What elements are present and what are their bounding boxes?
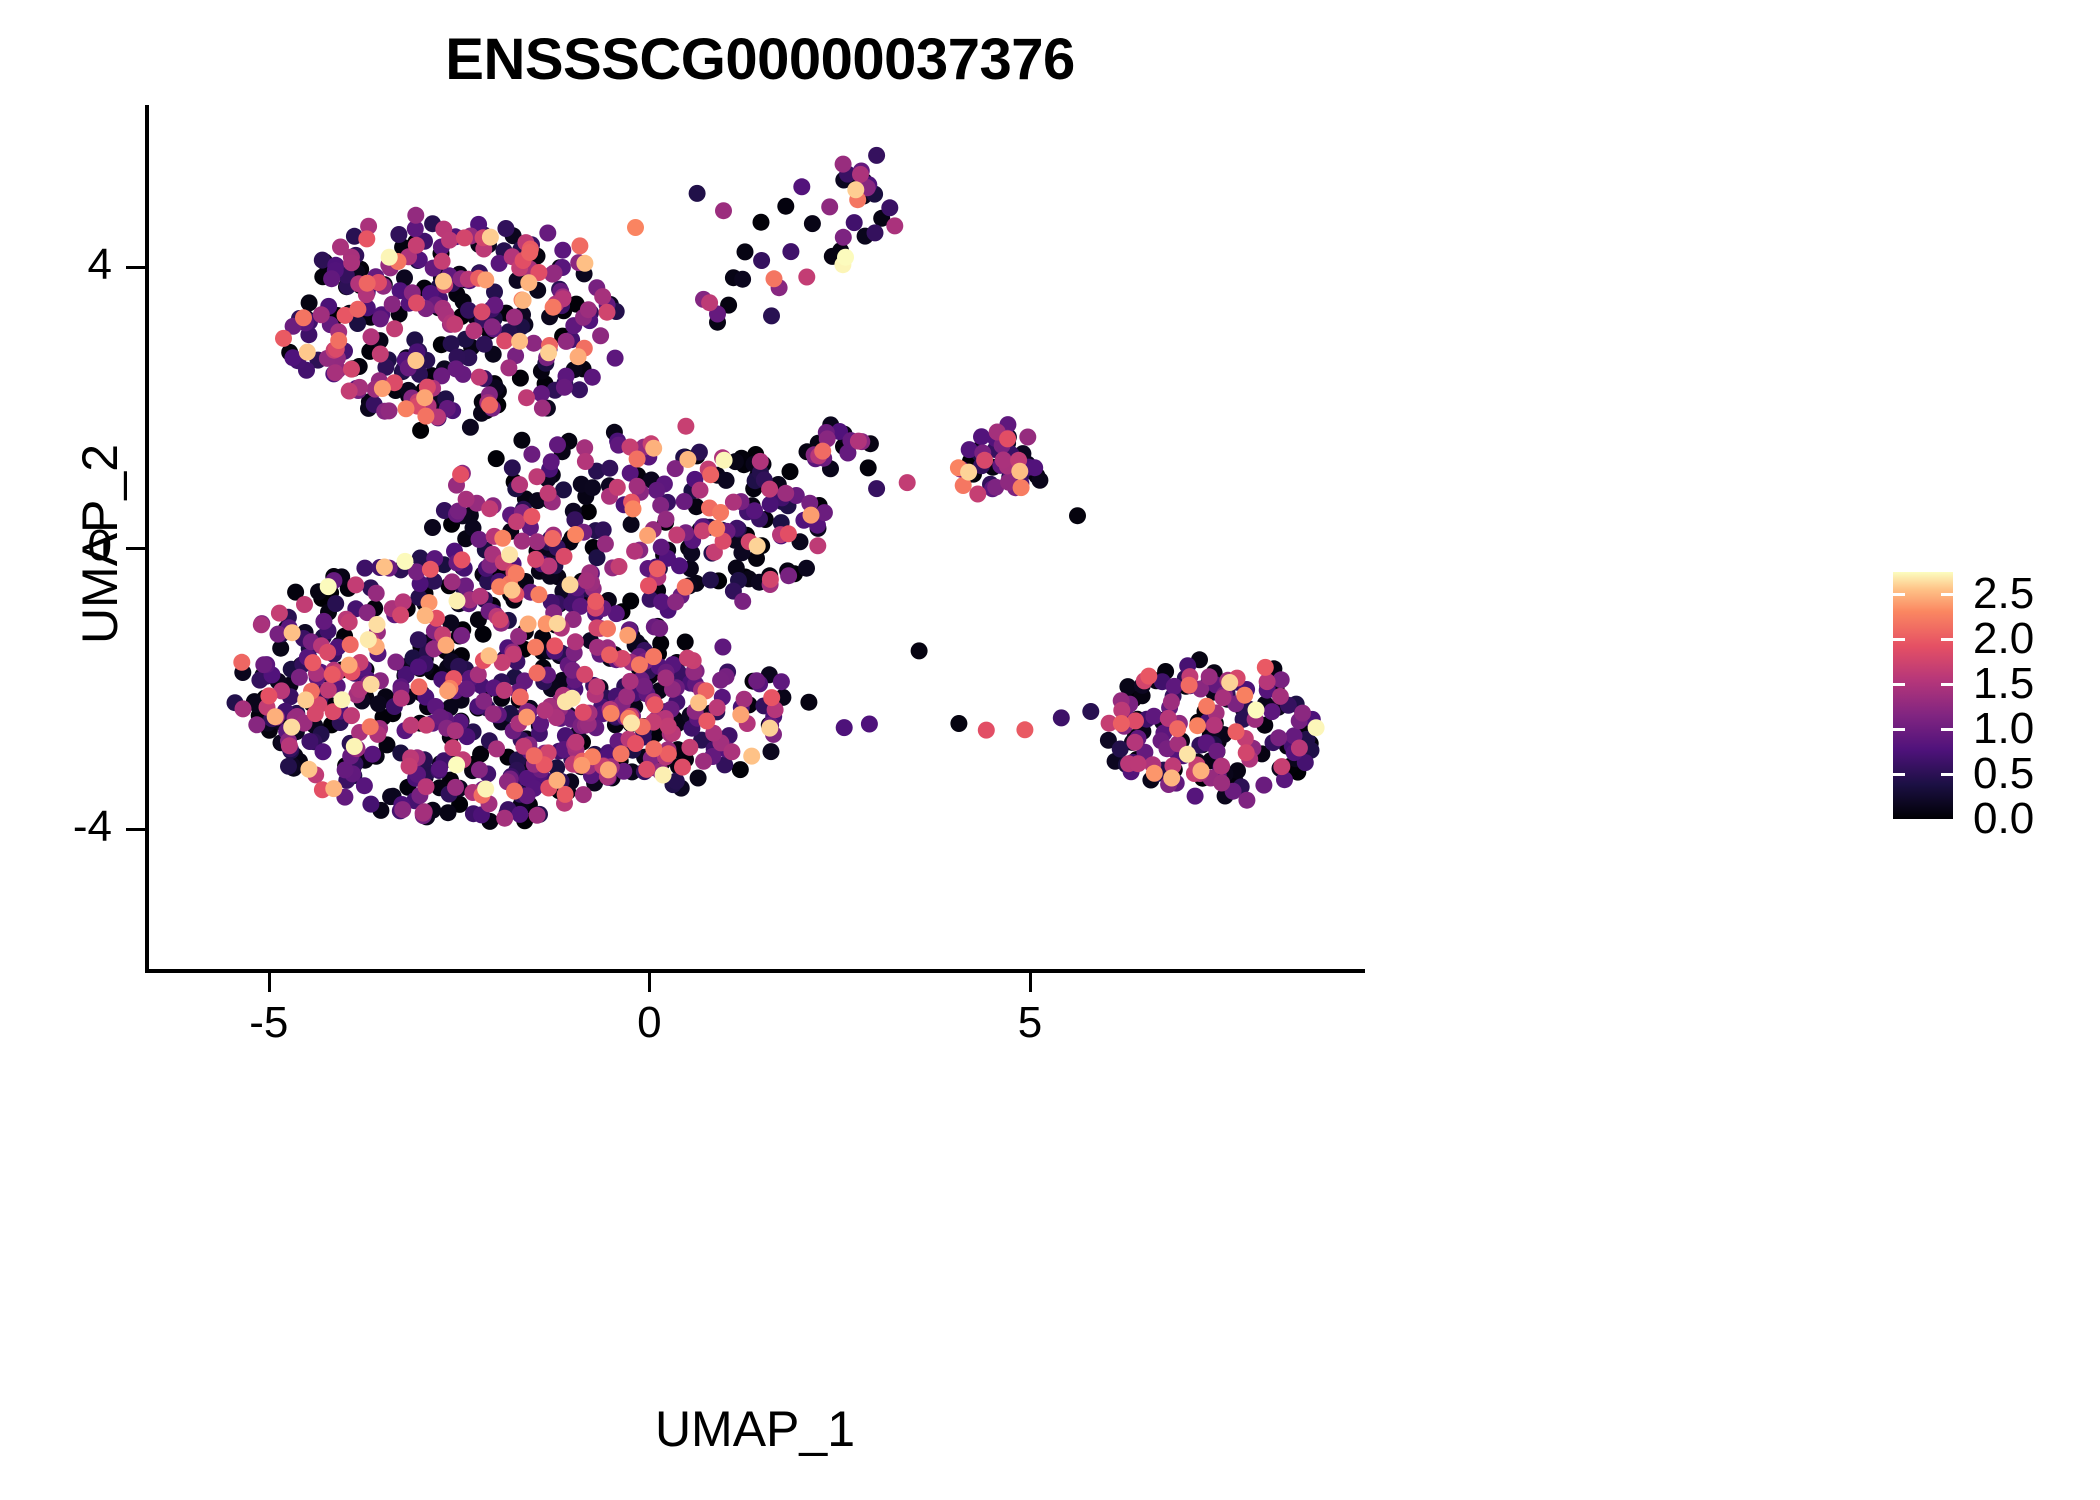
scatter-point <box>508 565 525 582</box>
scatter-point <box>518 389 535 406</box>
scatter-point <box>1019 429 1036 446</box>
scatter-point <box>481 500 498 517</box>
colorbar-tick-mark <box>1941 683 1953 686</box>
scatter-point <box>513 432 530 449</box>
colorbar-tick-mark <box>1893 773 1905 776</box>
scatter-point <box>346 738 363 755</box>
scatter-point <box>1016 721 1033 738</box>
scatter-point <box>1193 762 1210 779</box>
scatter-point <box>320 578 337 595</box>
scatter-point <box>618 688 635 705</box>
scatter-point <box>835 156 852 173</box>
scatter-point <box>452 466 469 483</box>
scatter-point <box>599 620 616 637</box>
scatter-point <box>424 519 441 536</box>
scatter-point <box>969 486 986 503</box>
scatter-point <box>511 333 528 350</box>
scatter-point <box>349 301 366 318</box>
scatter-point <box>601 460 618 477</box>
scatter-point <box>809 537 826 554</box>
scatter-point <box>529 533 546 550</box>
scatter-point <box>343 361 360 378</box>
scatter-point <box>852 166 869 183</box>
scatter-point <box>625 500 642 517</box>
scatter-point <box>576 666 593 683</box>
scatter-point <box>692 482 709 499</box>
scatter-point <box>780 567 797 584</box>
scatter-point <box>523 508 540 525</box>
scatter-point <box>761 481 778 498</box>
x-tick-label: 5 <box>1018 998 1042 1048</box>
scatter-point <box>384 296 401 313</box>
scatter-point <box>410 631 427 648</box>
colorbar-tick-mark <box>1941 638 1953 641</box>
scatter-point <box>782 243 799 260</box>
scatter-point <box>456 229 473 246</box>
scatter-point <box>655 767 672 784</box>
colorbar-tick-mark <box>1941 593 1953 596</box>
scatter-point <box>1166 678 1183 695</box>
scatter-point <box>544 530 561 547</box>
scatter-point <box>471 369 488 386</box>
scatter-point <box>315 613 332 630</box>
scatter-point <box>341 657 358 674</box>
scatter-point <box>837 249 854 266</box>
scatter-point <box>235 700 252 717</box>
scatter-point <box>528 468 545 485</box>
scatter-point <box>626 543 643 560</box>
scatter-point <box>434 253 451 270</box>
scatter-point <box>275 330 292 347</box>
scatter-point <box>1069 507 1086 524</box>
scatter-point <box>1213 758 1230 775</box>
scatter-point <box>300 761 317 778</box>
scatter-point <box>323 270 340 287</box>
scatter-point <box>564 690 581 707</box>
scatter-point <box>575 786 592 803</box>
scatter-point <box>676 493 693 510</box>
scatter-point <box>511 806 528 823</box>
scatter-point <box>297 691 314 708</box>
scatter-point <box>374 380 391 397</box>
scatter-point <box>1163 770 1180 787</box>
scatter-point <box>690 770 707 787</box>
scatter-point <box>447 779 464 796</box>
scatter-point <box>518 709 535 726</box>
scatter-point <box>444 739 461 756</box>
scatter-point <box>307 705 324 722</box>
scatter-point <box>416 389 433 406</box>
scatter-point <box>638 761 655 778</box>
scatter-point <box>1163 693 1180 710</box>
scatter-point <box>492 611 509 628</box>
scatter-point <box>677 579 694 596</box>
scatter-point <box>446 316 463 333</box>
scatter-point <box>868 147 885 164</box>
scatter-point <box>315 743 332 760</box>
x-tick-mark <box>268 973 271 992</box>
colorbar-legend: 2.52.01.51.00.50.0 <box>1893 572 2093 832</box>
scatter-point <box>520 616 537 633</box>
scatter-point <box>343 707 360 724</box>
scatter-point <box>410 659 427 676</box>
scatter-point <box>402 717 419 734</box>
scatter-point <box>500 359 517 376</box>
scatter-point <box>846 214 863 231</box>
scatter-point <box>868 480 885 497</box>
scatter-point <box>607 350 624 367</box>
scatter-point <box>698 713 715 730</box>
scatter-point <box>753 252 770 269</box>
scatter-point <box>782 463 799 480</box>
scatter-point <box>356 560 373 577</box>
scatter-point <box>570 348 587 365</box>
scatter-point <box>477 781 494 798</box>
scatter-point <box>1187 788 1204 805</box>
scatter-point <box>471 531 488 548</box>
scatter-point <box>1113 715 1130 732</box>
scatter-point <box>562 576 579 593</box>
scatter-point <box>1189 717 1206 734</box>
scatter-point <box>267 708 284 725</box>
scatter-point <box>587 593 604 610</box>
scatter-point <box>867 224 884 241</box>
scatter-point <box>1206 717 1223 734</box>
scatter-point <box>534 400 551 417</box>
scatter-point <box>1198 698 1215 715</box>
scatter-point <box>319 644 336 661</box>
scatter-point <box>362 718 379 735</box>
scatter-point <box>504 582 521 599</box>
scatter-point <box>543 453 560 470</box>
scatter-point <box>511 476 528 493</box>
scatter-point <box>387 654 404 671</box>
scatter-point <box>453 551 470 568</box>
scatter-point <box>324 666 341 683</box>
scatter-point <box>960 464 977 481</box>
scatter-point <box>253 616 270 633</box>
x-tick-label: -5 <box>249 998 288 1048</box>
scatter-point <box>440 804 457 821</box>
scatter-point <box>660 718 677 735</box>
scatter-point <box>732 761 749 778</box>
scatter-point <box>723 743 740 760</box>
scatter-point <box>763 743 780 760</box>
scatter-point <box>476 336 493 353</box>
scatter-point <box>370 695 387 712</box>
scatter-point <box>734 593 751 610</box>
scatter-point <box>639 527 656 544</box>
scatter-point <box>645 740 662 757</box>
scatter-point <box>1013 479 1030 496</box>
scatter-point <box>364 746 381 763</box>
colorbar-tick-label: 2.5 <box>1973 569 2034 619</box>
scatter-point <box>411 678 428 695</box>
scatter-point <box>737 243 754 260</box>
scatter-point <box>1294 705 1311 722</box>
scatter-point <box>899 474 916 491</box>
scatter-point <box>976 452 993 469</box>
colorbar-tick-mark <box>1893 728 1905 731</box>
scatter-point <box>1127 712 1144 729</box>
x-axis-line <box>145 969 1365 973</box>
scatter-point <box>753 214 770 231</box>
colorbar-tick-mark <box>1893 683 1905 686</box>
scatter-point <box>973 428 990 445</box>
scatter-point <box>861 716 878 733</box>
scatter-point <box>558 333 575 350</box>
scatter-point <box>597 536 614 553</box>
scatter-point <box>368 585 385 602</box>
scatter-point <box>715 202 732 219</box>
scatter-point <box>408 237 425 254</box>
scatter-point <box>1238 744 1255 761</box>
scatter-point <box>1248 702 1265 719</box>
scatter-point <box>415 805 432 822</box>
scatter-point <box>1208 743 1225 760</box>
scatter-point <box>546 637 563 654</box>
scatter-point <box>327 595 344 612</box>
scatter-point <box>743 748 760 765</box>
scatter-point <box>347 576 364 593</box>
scatter-point <box>1145 708 1162 725</box>
scatter-point <box>441 232 458 249</box>
scatter-point <box>494 530 511 547</box>
colorbar-tick-label: 2.0 <box>1973 614 2034 664</box>
scatter-point <box>1179 746 1196 763</box>
scatter-point <box>496 682 513 699</box>
colorbar-tick-mark <box>1941 728 1953 731</box>
colorbar-tick-mark <box>1893 638 1905 641</box>
scatter-point <box>527 551 544 568</box>
scatter-point <box>1257 659 1274 676</box>
scatter-point <box>341 383 358 400</box>
scatter-point <box>627 735 644 752</box>
scatter-point <box>372 310 389 327</box>
scatter-point <box>1201 668 1218 685</box>
scatter-point <box>777 485 794 502</box>
scatter-point <box>573 757 590 774</box>
scatter-point <box>999 430 1016 447</box>
scatter-point <box>475 626 492 643</box>
scatter-point <box>1270 729 1287 746</box>
scatter-point <box>777 198 794 215</box>
scatter-point <box>488 450 505 467</box>
scatter-point <box>761 720 778 737</box>
scatter-point <box>1140 668 1157 685</box>
scatter-point <box>330 332 347 349</box>
scatter-point <box>343 254 360 271</box>
scatter-point <box>1026 459 1043 476</box>
scatter-point <box>444 573 461 590</box>
scatter-point <box>601 646 618 663</box>
scatter-point <box>523 446 540 463</box>
scatter-point <box>362 796 379 813</box>
scatter-point <box>472 588 489 605</box>
scatter-point <box>372 346 389 363</box>
scatter-point <box>798 560 815 577</box>
scatter-point <box>271 605 288 622</box>
scatter-point <box>1255 777 1272 794</box>
scatter-point <box>549 772 566 789</box>
scatter-point <box>448 360 465 377</box>
scatter-point <box>1130 755 1147 772</box>
scatter-point <box>334 691 351 708</box>
scatter-point <box>576 255 593 272</box>
scatter-point <box>417 408 434 425</box>
scatter-point <box>631 656 648 673</box>
scatter-point <box>549 436 566 453</box>
scatter-point <box>762 496 779 513</box>
scatter-point <box>718 472 735 489</box>
scatter-point <box>1272 688 1289 705</box>
scatter-point <box>417 607 434 624</box>
scatter-point <box>567 526 584 543</box>
scatter-point <box>536 702 553 719</box>
scatter-point <box>667 594 684 611</box>
scatter-point <box>814 443 831 460</box>
scatter-point <box>401 758 418 775</box>
scatter-plot-panel <box>147 105 1365 969</box>
scatter-point <box>567 633 584 650</box>
scatter-point <box>623 715 640 732</box>
scatter-point <box>580 301 597 318</box>
scatter-point <box>341 614 358 631</box>
scatter-point <box>714 639 731 656</box>
scatter-point <box>651 620 668 637</box>
scatter-point <box>599 304 616 321</box>
scatter-point <box>477 271 494 288</box>
scatter-point <box>397 553 414 570</box>
scatter-point <box>422 561 439 578</box>
scatter-point <box>481 647 498 664</box>
scatter-point <box>453 627 470 644</box>
scatter-point <box>584 479 601 496</box>
scatter-point <box>679 650 696 667</box>
scatter-point <box>702 572 719 589</box>
scatter-point <box>592 327 609 344</box>
scatter-point <box>629 451 646 468</box>
scatter-point <box>622 593 639 610</box>
scatter-point <box>360 631 377 648</box>
scatter-point <box>689 185 706 202</box>
scatter-point <box>881 199 898 216</box>
scatter-point <box>763 307 780 324</box>
scatter-point <box>496 810 513 827</box>
scatter-point <box>520 274 537 291</box>
scatter-point <box>533 385 550 402</box>
scatter-point <box>304 654 321 671</box>
scatter-point <box>708 520 725 537</box>
scatter-point <box>1264 703 1281 720</box>
scatter-point <box>485 705 502 722</box>
scatter-point <box>529 665 546 682</box>
scatter-point <box>836 719 853 736</box>
scatter-point <box>690 694 707 711</box>
scatter-point <box>1238 792 1255 809</box>
scatter-point <box>506 309 523 326</box>
scatter-point <box>860 459 877 476</box>
scatter-point <box>398 400 415 417</box>
scatter-point <box>1126 734 1143 751</box>
scatter-point <box>283 719 300 736</box>
scatter-point <box>736 691 753 708</box>
scatter-point <box>886 217 903 234</box>
scatter-point <box>381 249 398 266</box>
scatter-point <box>407 352 424 369</box>
scatter-point <box>473 303 490 320</box>
x-tick-mark <box>648 973 651 992</box>
scatter-point <box>390 226 407 243</box>
colorbar-tick-label: 1.0 <box>1973 704 2034 754</box>
scatter-point <box>1011 463 1028 480</box>
scatter-point <box>301 294 318 311</box>
scatter-point <box>668 527 685 544</box>
scatter-point <box>702 466 719 483</box>
scatter-point <box>619 627 636 644</box>
scatter-point <box>394 801 411 818</box>
scatter-point <box>496 332 513 349</box>
scatter-point <box>471 761 488 778</box>
scatter-point <box>299 344 316 361</box>
scatter-point <box>762 571 779 588</box>
colorbar-gradient <box>1893 572 1953 819</box>
scatter-point <box>1169 720 1186 737</box>
scatter-point <box>1273 758 1290 775</box>
scatter-point <box>448 756 465 773</box>
scatter-point <box>911 642 928 659</box>
scatter-point <box>1146 765 1163 782</box>
scatter-point <box>540 485 557 502</box>
scatter-point <box>773 673 790 690</box>
scatter-point <box>712 672 729 689</box>
scatter-point <box>645 440 662 457</box>
scatter-point <box>407 207 424 224</box>
scatter-point <box>381 402 398 419</box>
scatter-point <box>575 704 592 721</box>
scatter-point <box>1082 703 1099 720</box>
scatter-point <box>1213 775 1230 792</box>
scatter-point <box>766 270 783 287</box>
scatter-point <box>358 230 375 247</box>
colorbar-tick-mark <box>1893 593 1905 596</box>
scatter-point <box>835 229 852 246</box>
scatter-point <box>1112 741 1129 758</box>
scatter-point <box>1215 689 1232 706</box>
scatter-point <box>521 244 538 261</box>
scatter-point <box>1181 677 1198 694</box>
scatter-point <box>709 699 726 716</box>
colorbar-tick-label: 0.5 <box>1973 749 2034 799</box>
scatter-point <box>649 560 666 577</box>
scatter-point <box>291 669 308 686</box>
scatter-point <box>466 322 483 339</box>
scatter-points-layer <box>147 105 1365 969</box>
scatter-point <box>363 676 380 693</box>
scatter-point <box>1291 740 1308 757</box>
scatter-point <box>660 745 677 762</box>
scatter-point <box>281 737 298 754</box>
scatter-point <box>545 299 562 316</box>
scatter-point <box>376 559 393 576</box>
scatter-point <box>611 558 628 575</box>
scatter-point <box>313 306 330 323</box>
scatter-point <box>1308 719 1325 736</box>
scatter-point <box>408 295 425 312</box>
scatter-point <box>577 453 594 470</box>
scatter-point <box>640 577 657 594</box>
scatter-point <box>647 696 664 713</box>
